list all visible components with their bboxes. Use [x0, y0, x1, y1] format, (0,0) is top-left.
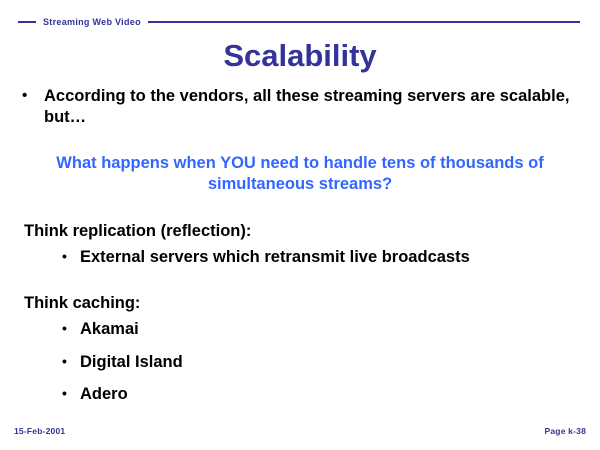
list-item-label: Digital Island	[80, 352, 183, 373]
page-title: Scalability	[0, 38, 600, 74]
bullet-glyph-icon: •	[62, 319, 80, 337]
header-rule-left	[18, 21, 36, 23]
bullet-glyph-icon: •	[62, 247, 80, 265]
list-item-label: External servers which retransmit live b…	[80, 247, 470, 268]
heading-replication: Think replication (reflection):	[0, 222, 600, 241]
bullet-item-vendors-label: According to the vendors, all these stre…	[44, 86, 582, 128]
list-caching: • Akamai • Digital Island • Adero	[0, 319, 600, 405]
header-label: Streaming Web Video	[36, 17, 148, 27]
callout-question: What happens when YOU need to handle ten…	[0, 153, 600, 196]
list-item: • Digital Island	[0, 352, 600, 373]
slide: Streaming Web Video Scalability • Accord…	[0, 0, 600, 450]
bullet-glyph-icon: •	[62, 384, 80, 402]
list-item: • External servers which retransmit live…	[0, 247, 600, 268]
slide-body: • According to the vendors, all these st…	[0, 86, 600, 417]
footer-page-number: Page k-38	[545, 426, 587, 436]
list-item: • Akamai	[0, 319, 600, 340]
bullet-glyph-icon: •	[22, 86, 44, 105]
list-item: • Adero	[0, 384, 600, 405]
bullet-glyph-icon: •	[62, 352, 80, 370]
header-rule-right	[148, 21, 580, 23]
list-replication: • External servers which retransmit live…	[0, 247, 600, 268]
bullet-item-vendors: • According to the vendors, all these st…	[0, 86, 600, 128]
list-item-label: Adero	[80, 384, 128, 405]
list-item-label: Akamai	[80, 319, 139, 340]
footer-date: 15-Feb-2001	[14, 426, 65, 436]
slide-header: Streaming Web Video	[0, 14, 600, 30]
heading-caching: Think caching:	[0, 294, 600, 313]
